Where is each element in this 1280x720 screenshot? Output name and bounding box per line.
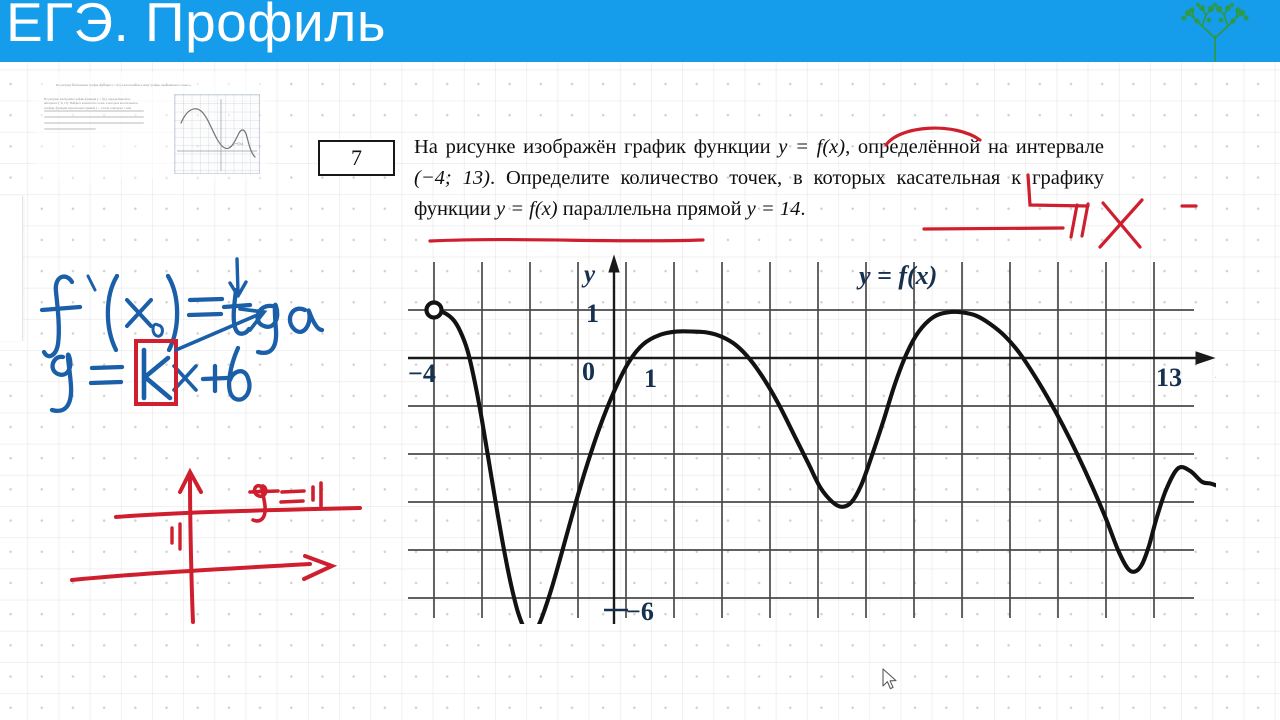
arc-over-formula <box>886 128 980 145</box>
hook-mark <box>1028 175 1088 206</box>
t-crossbar <box>224 305 250 307</box>
sketch-label-y-strike <box>250 491 278 492</box>
blue-handwritten-notes <box>42 259 322 411</box>
red-text-annotations <box>430 128 1196 247</box>
sketch-line-y14 <box>116 508 360 517</box>
red-sketch <box>72 472 360 622</box>
parallel-slash-2 <box>1082 204 1088 236</box>
parallel-slash-1 <box>1071 205 1077 237</box>
sketch-y-axis <box>190 478 193 622</box>
sketch-axis-value <box>172 524 180 549</box>
sketch-x-arrowhead <box>304 556 332 579</box>
sketch-label-equals <box>281 491 304 502</box>
mouse-pointer <box>882 668 900 692</box>
handwriting-overlay <box>0 0 1280 720</box>
underline-y14 <box>924 228 1063 229</box>
sketch-label-14 <box>313 483 321 506</box>
underline-function <box>430 240 703 241</box>
f-crossbar <box>42 307 80 310</box>
